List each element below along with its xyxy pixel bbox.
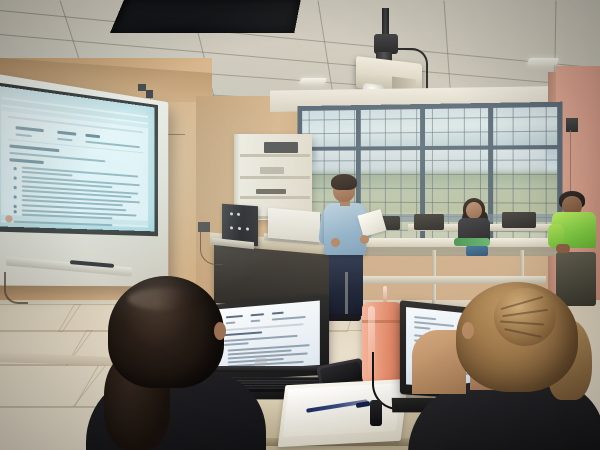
- doc-table-header: [16, 126, 44, 132]
- hp-logo-icon: [255, 358, 267, 367]
- attendee-left-hair-shine: [128, 288, 202, 310]
- wall-sensor: [138, 84, 146, 91]
- charger-plug: [370, 400, 382, 426]
- doc-table-header: [85, 134, 100, 139]
- whiteboard-cable: [4, 272, 28, 304]
- blue-tablet: [466, 246, 488, 256]
- classroom-chair: [414, 214, 444, 230]
- app-logo-icon: [5, 215, 12, 223]
- student-green-legs: [556, 252, 596, 306]
- presenter-right-hand: [360, 235, 369, 244]
- projector-mount-joint: [374, 34, 398, 54]
- student-green-hand: [556, 244, 570, 253]
- student-head: [466, 202, 482, 219]
- tumbler-lid: [360, 296, 404, 310]
- green-folder: [454, 238, 490, 246]
- doc-table-header: [57, 131, 76, 136]
- recessed-light-icon: [299, 78, 327, 84]
- doc-section-title: [9, 144, 59, 152]
- wall-sensor: [146, 90, 153, 98]
- presenter-hair: [331, 174, 357, 190]
- shelf-item-cables: [256, 189, 286, 194]
- shelf-item-folders: [260, 167, 284, 174]
- laptop-left-hinge: [205, 366, 330, 372]
- classroom-photo-scene: [0, 0, 600, 450]
- document-page: [1, 97, 148, 228]
- power-cable: [200, 230, 223, 265]
- attendee-right-ear: [462, 322, 474, 339]
- attendee-left-ear: [214, 322, 226, 340]
- laptop-left-screen[interactable]: [217, 300, 320, 370]
- recessed-light-icon: [527, 58, 559, 65]
- presenter-leg-gap: [345, 272, 348, 316]
- shelf-item-printer: [264, 142, 298, 153]
- doc-section-title: [9, 158, 43, 164]
- attendee-right-bun: [494, 288, 556, 346]
- open-ceiling-tile: [110, 0, 302, 33]
- presenter-left-hand: [331, 238, 340, 247]
- classroom-chair: [502, 212, 536, 228]
- presenter-shoes: [327, 314, 361, 321]
- white-laptop: [268, 208, 320, 243]
- projected-document-screen[interactable]: [0, 85, 155, 231]
